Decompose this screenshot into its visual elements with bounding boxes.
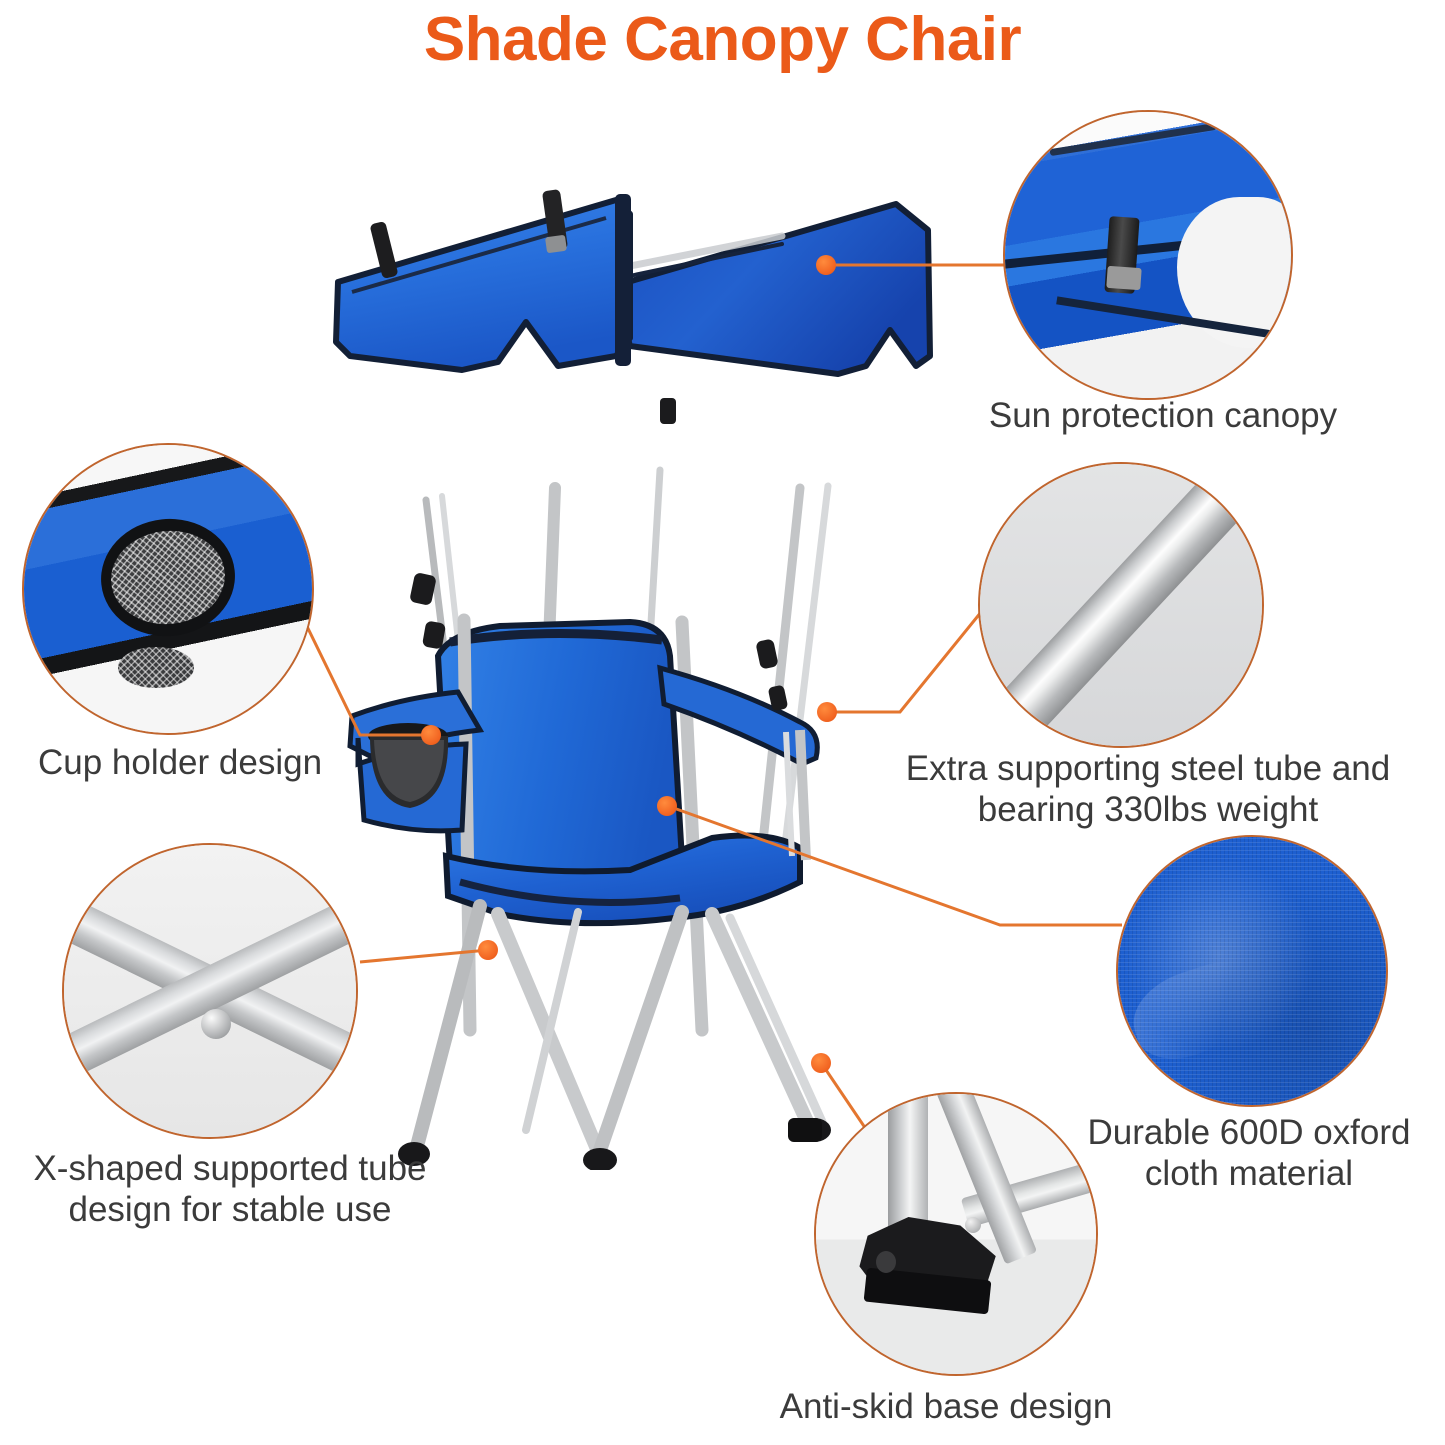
detail-circle-cup-holder bbox=[22, 443, 314, 735]
steel-tube-detail bbox=[978, 462, 1264, 748]
detail-circle-sun-protection-canopy bbox=[1003, 110, 1293, 400]
crossed-tube-rivet-detail bbox=[62, 843, 358, 1139]
canopy-fabric-strap-detail bbox=[1003, 110, 1293, 400]
infographic-canvas: Shade Canopy Chair bbox=[0, 0, 1445, 1445]
caption-cup-holder: Cup holder design bbox=[0, 742, 360, 783]
caption-x-shaped-tube: X-shaped supported tube design for stabl… bbox=[0, 1148, 460, 1231]
foot-bolt bbox=[965, 1217, 981, 1233]
strap-buckle bbox=[1107, 265, 1142, 289]
canopy-zipper bbox=[1050, 123, 1217, 156]
mesh-cup-holder-detail bbox=[22, 443, 314, 735]
rivet bbox=[201, 1009, 231, 1039]
callout-dot-x-shaped-tube bbox=[478, 940, 498, 960]
detail-circle-steel-tube bbox=[978, 462, 1264, 748]
blue-oxford-fabric-detail bbox=[1116, 835, 1388, 1107]
callout-line-cup-holder bbox=[300, 612, 430, 735]
detail-circle-x-shaped-tube bbox=[62, 843, 358, 1139]
callout-dot-oxford-cloth bbox=[657, 796, 677, 816]
caption-sun-protection-canopy: Sun protection canopy bbox=[913, 395, 1413, 436]
callout-line-x-shaped-tube bbox=[360, 950, 488, 962]
detail-circle-anti-skid-base bbox=[814, 1092, 1098, 1376]
caption-anti-skid-base: Anti-skid base design bbox=[726, 1386, 1166, 1427]
detail-circle-oxford-cloth bbox=[1116, 835, 1388, 1107]
caption-steel-tube: Extra supporting steel tube and bearing … bbox=[868, 748, 1428, 831]
black-plastic-foot-detail bbox=[814, 1092, 1098, 1376]
callout-line-steel-tube bbox=[828, 606, 986, 712]
callout-dot-sun-protection-canopy bbox=[816, 255, 836, 275]
side-mesh-pocket bbox=[118, 647, 194, 688]
callout-dot-cup-holder bbox=[421, 725, 441, 745]
fabric-weave-texture bbox=[1116, 835, 1388, 1107]
callout-dot-steel-tube bbox=[817, 702, 837, 722]
caption-oxford-cloth: Durable 600D oxford cloth material bbox=[1053, 1112, 1445, 1195]
steel-tube bbox=[978, 462, 1264, 748]
callout-dot-anti-skid-base bbox=[811, 1053, 831, 1073]
